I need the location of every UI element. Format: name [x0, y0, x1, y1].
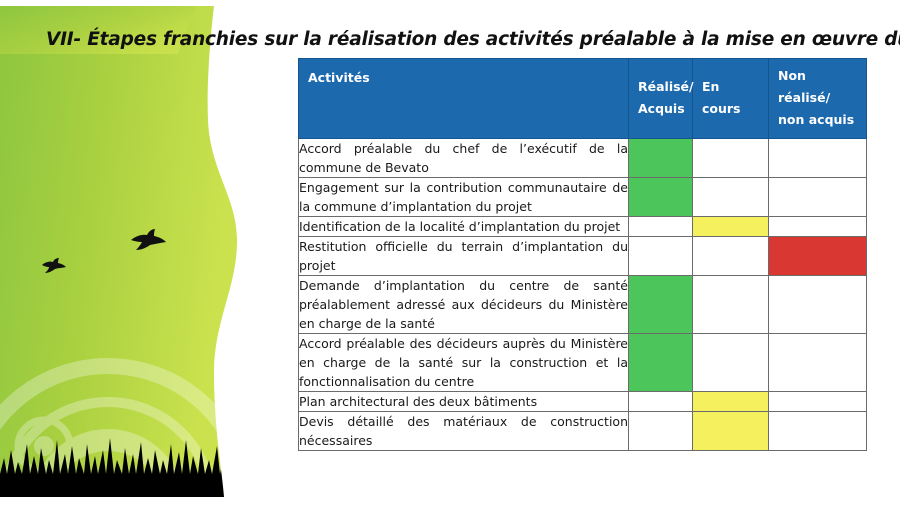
green-nature-illustration: [0, 0, 300, 506]
column-header-non-realise-line2: non acquis: [778, 112, 854, 127]
activity-label: Identification de la localité d’implanta…: [299, 216, 629, 236]
table-row: Engagement sur la contribution communaut…: [299, 177, 867, 216]
activity-label: Devis détaillé des matériaux de construc…: [299, 411, 629, 450]
status-cell-realise[interactable]: [629, 275, 693, 333]
status-cell-non-realise[interactable]: [769, 138, 867, 177]
status-cell-non-realise[interactable]: [769, 236, 867, 275]
status-cell-realise[interactable]: [629, 216, 693, 236]
column-header-realise-acquis: Réalisé/ Acquis: [629, 59, 693, 139]
activity-label: Accord préalable des décideurs auprès du…: [299, 333, 629, 391]
status-cell-realise[interactable]: [629, 411, 693, 450]
status-cell-en-cours[interactable]: [693, 275, 769, 333]
activity-label: Demande d’implantation du centre de sant…: [299, 275, 629, 333]
table-row: Accord préalable du chef de l’exécutif d…: [299, 138, 867, 177]
status-cell-en-cours[interactable]: [693, 138, 769, 177]
table-header-row: Activités Réalisé/ Acquis En cours Non r…: [299, 59, 867, 139]
grass-silhouette: [0, 438, 300, 506]
circle-ornaments: [0, 366, 248, 506]
status-cell-realise[interactable]: [629, 391, 693, 411]
activity-label: Plan architectural des deux bâtiments: [299, 391, 629, 411]
table-body: Accord préalable du chef de l’exécutif d…: [299, 138, 867, 450]
column-header-non-realise-line1: Non réalisé/: [778, 68, 830, 105]
status-cell-en-cours[interactable]: [693, 411, 769, 450]
activities-status-table: Activités Réalisé/ Acquis En cours Non r…: [298, 58, 867, 451]
column-header-realise-line1: Réalisé/: [638, 79, 694, 94]
status-cell-en-cours[interactable]: [693, 177, 769, 216]
status-cell-realise[interactable]: [629, 138, 693, 177]
activity-label: Accord préalable du chef de l’exécutif d…: [299, 138, 629, 177]
page-title: VII- Étapes franchies sur la réalisation…: [46, 29, 886, 50]
status-cell-non-realise[interactable]: [769, 333, 867, 391]
column-header-activites: Activités: [299, 59, 629, 139]
activity-label: Restitution officielle du terrain d’impl…: [299, 236, 629, 275]
column-header-realise-line2: Acquis: [638, 101, 685, 116]
table-row: Devis détaillé des matériaux de construc…: [299, 411, 867, 450]
status-cell-non-realise[interactable]: [769, 411, 867, 450]
table-row: Restitution officielle du terrain d’impl…: [299, 236, 867, 275]
table-row: Identification de la localité d’implanta…: [299, 216, 867, 236]
green-shape: [0, 6, 237, 497]
bird-icon-large: [131, 229, 166, 250]
status-cell-realise[interactable]: [629, 333, 693, 391]
status-cell-non-realise[interactable]: [769, 216, 867, 236]
status-cell-non-realise[interactable]: [769, 177, 867, 216]
status-cell-en-cours[interactable]: [693, 236, 769, 275]
status-cell-realise[interactable]: [629, 236, 693, 275]
table-row: Accord préalable des décideurs auprès du…: [299, 333, 867, 391]
column-header-en-cours: En cours: [693, 59, 769, 139]
activity-label: Engagement sur la contribution communaut…: [299, 177, 629, 216]
status-cell-en-cours[interactable]: [693, 391, 769, 411]
bird-icon-small: [42, 258, 66, 273]
status-cell-en-cours[interactable]: [693, 333, 769, 391]
table-row: Plan architectural des deux bâtiments: [299, 391, 867, 411]
column-header-non-realise: Non réalisé/ non acquis: [769, 59, 867, 139]
table-row: Demande d’implantation du centre de sant…: [299, 275, 867, 333]
status-cell-non-realise[interactable]: [769, 275, 867, 333]
status-cell-non-realise[interactable]: [769, 391, 867, 411]
status-cell-realise[interactable]: [629, 177, 693, 216]
decorative-background-graphic: [0, 0, 300, 506]
status-cell-en-cours[interactable]: [693, 216, 769, 236]
